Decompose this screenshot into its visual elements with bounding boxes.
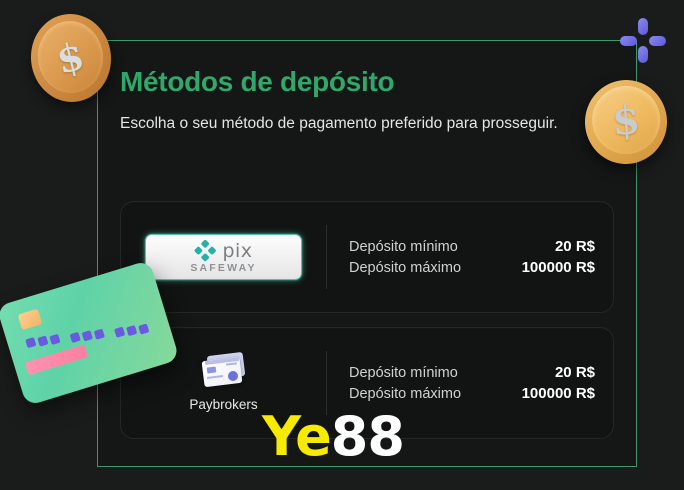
pix-logo-button[interactable]: pix SAFEWAY bbox=[145, 234, 302, 280]
deposit-min-row: Depósito mínimo 20 R$ bbox=[349, 362, 595, 383]
card-number-block bbox=[94, 329, 105, 340]
payment-methods-list: pix SAFEWAY Depósito mínimo 20 R$ Depósi… bbox=[120, 201, 614, 439]
pix-wordmark: pix bbox=[222, 242, 252, 261]
deposit-max-label: Depósito máximo bbox=[349, 386, 461, 402]
deposit-max-row: Depósito máximo 100000 R$ bbox=[349, 383, 595, 404]
card-number-block bbox=[126, 325, 137, 336]
plus-left-lobe bbox=[620, 36, 637, 46]
payment-method-pix[interactable]: pix SAFEWAY Depósito mínimo 20 R$ Depósi… bbox=[120, 201, 614, 313]
plus-right-lobe bbox=[649, 36, 666, 46]
deposit-min-amount: 20 R$ bbox=[555, 238, 595, 255]
card-chip-shape bbox=[206, 366, 216, 373]
card-number-block bbox=[138, 323, 149, 334]
watermark-part-2: 88 bbox=[331, 405, 404, 468]
deposit-min-label: Depósito mínimo bbox=[349, 239, 458, 255]
plus-icon bbox=[620, 18, 666, 64]
deposit-min-amount: 20 R$ bbox=[555, 364, 595, 381]
page-subtitle: Escolha o seu método de pagamento prefer… bbox=[120, 112, 575, 136]
plus-top-lobe bbox=[638, 18, 648, 35]
card-stripe bbox=[25, 345, 88, 376]
pix-safeway-label: SAFEWAY bbox=[190, 263, 256, 274]
paybrokers-label: Paybrokers bbox=[189, 397, 257, 412]
credit-cards-icon bbox=[201, 354, 247, 388]
dollar-sign-glyph: $ bbox=[611, 96, 642, 145]
paybrokers-deposit-limits: Depósito mínimo 20 R$ Depósito máximo 10… bbox=[327, 362, 613, 404]
deposit-min-row: Depósito mínimo 20 R$ bbox=[349, 236, 595, 257]
deposit-max-amount: 100000 R$ bbox=[522, 385, 595, 402]
deposit-panel: Métodos de depósito Escolha o seu método… bbox=[97, 40, 637, 467]
brand-watermark: Ye88 bbox=[262, 410, 404, 464]
card-number-block bbox=[37, 335, 48, 346]
pix-deposit-limits: Depósito mínimo 20 R$ Depósito máximo 10… bbox=[327, 236, 613, 278]
card-number-block bbox=[114, 327, 125, 338]
deposit-max-amount: 100000 R$ bbox=[522, 259, 595, 276]
watermark-part-1: Ye bbox=[262, 405, 331, 468]
page-title: Métodos de depósito bbox=[120, 67, 614, 98]
dollar-sign-glyph: $ bbox=[52, 32, 89, 82]
pix-logo-top: pix bbox=[194, 240, 252, 262]
deposit-min-label: Depósito mínimo bbox=[349, 365, 458, 381]
plus-bottom-lobe bbox=[638, 46, 648, 63]
card-dot-shape bbox=[228, 371, 238, 381]
panel-content: Métodos de depósito Escolha o seu método… bbox=[98, 41, 636, 466]
deposit-max-label: Depósito máximo bbox=[349, 260, 461, 276]
card-number-block bbox=[70, 332, 81, 343]
card-number-block bbox=[49, 334, 60, 345]
deposit-max-row: Depósito máximo 100000 R$ bbox=[349, 257, 595, 278]
card-number-block bbox=[82, 330, 93, 341]
pix-diamond-icon bbox=[194, 240, 216, 262]
card-chip bbox=[18, 309, 43, 330]
deposit-methods-screen: Métodos de depósito Escolha o seu método… bbox=[0, 0, 684, 490]
card-number-block bbox=[25, 337, 36, 348]
